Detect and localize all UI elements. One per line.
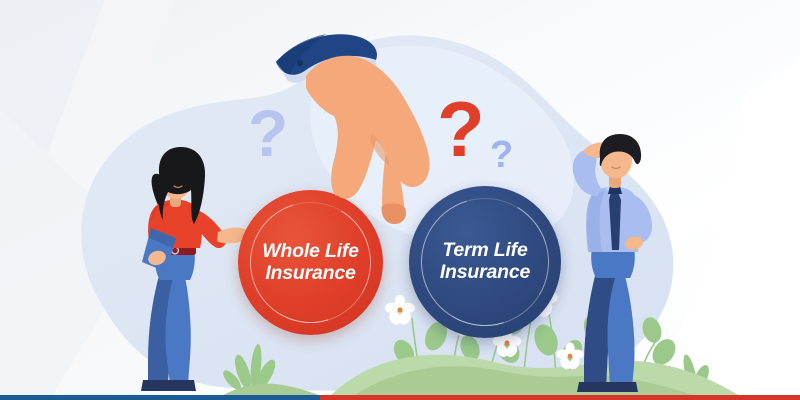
bottom-bar-blue-segment bbox=[0, 395, 320, 400]
badge-line-1: Term Life bbox=[442, 239, 527, 261]
bottom-bar-red-segment bbox=[320, 395, 800, 400]
term-life-insurance-label: Term Life Insurance bbox=[430, 240, 540, 284]
pointing-hand-icon bbox=[276, 34, 430, 224]
bottom-accent-bar bbox=[0, 395, 800, 400]
sleeve-button bbox=[297, 60, 303, 66]
badge-line-1: Whole Life bbox=[262, 240, 359, 262]
hand-palm bbox=[306, 56, 430, 199]
badge-line-2: Insurance bbox=[265, 262, 355, 284]
illustration-canvas: Whole Life Insurance Term Life Insurance… bbox=[0, 0, 800, 400]
pointing-hand-layer bbox=[0, 0, 800, 400]
whole-life-insurance-label: Whole Life Insurance bbox=[252, 241, 369, 285]
hand-finger-tip bbox=[382, 203, 406, 224]
badge-line-2: Insurance bbox=[440, 261, 530, 283]
